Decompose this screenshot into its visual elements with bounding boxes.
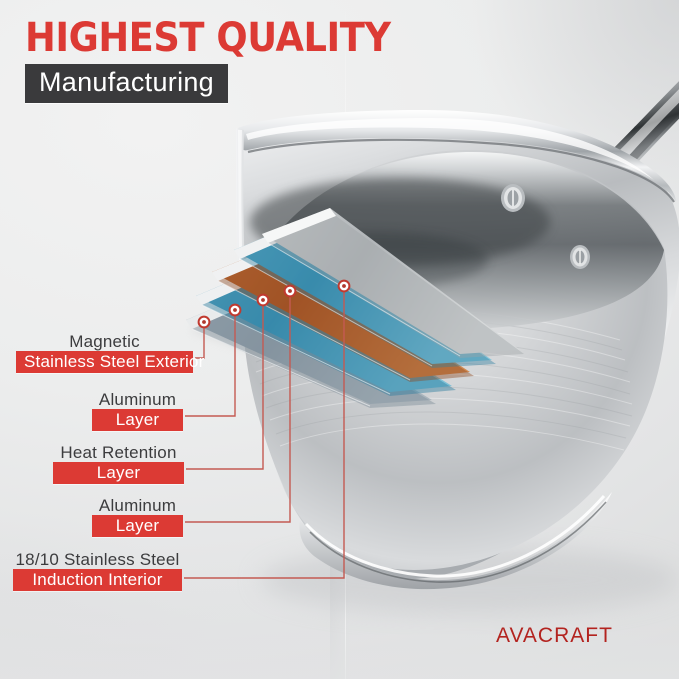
pan-rivet-upper [501, 184, 525, 212]
infographic-canvas: HIGHEST QUALITY Manufacturing Magnetic S… [0, 0, 679, 679]
layer-label-4-title: Aluminum [92, 496, 183, 515]
layer-label-1-boxed: Stainless Steel Exterior [16, 351, 193, 373]
pan-rivet-lower [570, 245, 590, 269]
layer-label-1-title: Magnetic [16, 332, 193, 351]
layer-label-4: Aluminum Layer [92, 496, 183, 537]
layer-label-2-title: Aluminum [92, 390, 183, 409]
layer-label-4-boxed: Layer [92, 515, 183, 537]
page-subtitle-box: Manufacturing [25, 64, 228, 103]
layer-label-3-title: Heat Retention [53, 443, 184, 462]
brand-logo: AVACRAFT [496, 624, 613, 648]
layer-label-3: Heat Retention Layer [53, 443, 184, 484]
page-title: HIGHEST QUALITY [25, 18, 411, 58]
layer-label-5: 18/10 Stainless Steel Induction Interior [13, 550, 182, 591]
layer-label-5-title: 18/10 Stainless Steel [13, 550, 182, 569]
layer-label-2-boxed: Layer [92, 409, 183, 431]
header-block: HIGHEST QUALITY Manufacturing [25, 18, 445, 103]
layer-label-3-boxed: Layer [53, 462, 184, 484]
layer-label-2: Aluminum Layer [92, 390, 183, 431]
page-subtitle: Manufacturing [39, 68, 214, 97]
layer-label-5-boxed: Induction Interior [13, 569, 182, 591]
layer-label-1: Magnetic Stainless Steel Exterior [16, 332, 193, 373]
